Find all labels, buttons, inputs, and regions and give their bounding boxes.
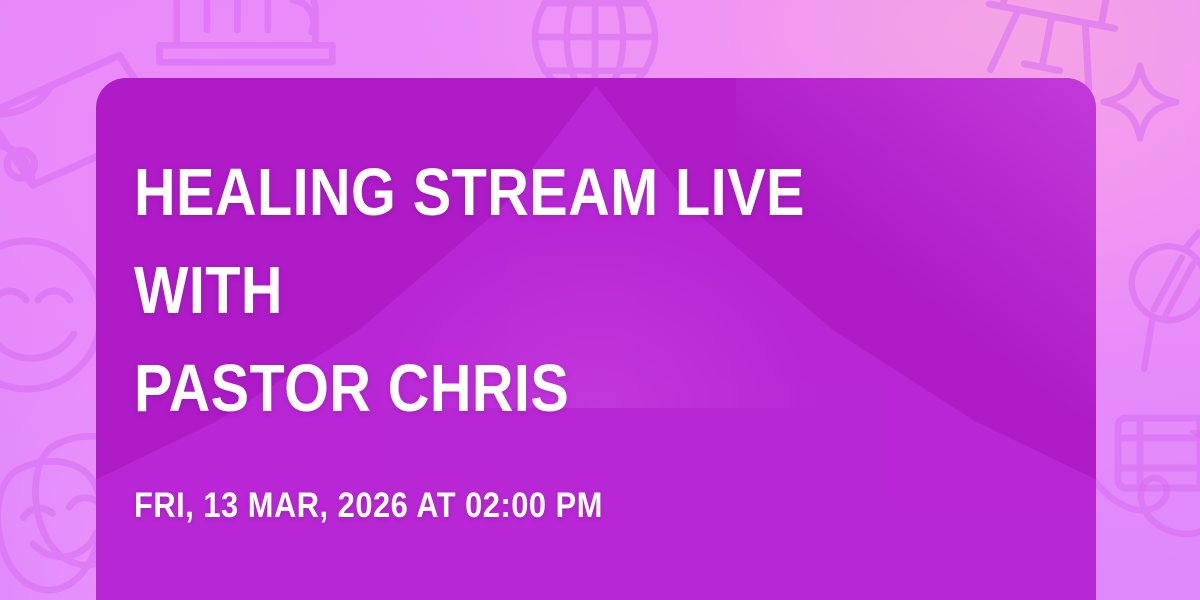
event-card[interactable]: HEALING STREAM LIVE WITH PASTOR CHRIS FR… <box>96 78 1096 600</box>
event-title: HEALING STREAM LIVE WITH PASTOR CHRIS <box>134 144 910 438</box>
event-banner: HEALING STREAM LIVE WITH PASTOR CHRIS FR… <box>0 0 1200 600</box>
event-card-content: HEALING STREAM LIVE WITH PASTOR CHRIS FR… <box>134 144 1036 526</box>
event-date-time: FRI, 13 MAR, 2026 AT 02:00 PM <box>134 486 928 526</box>
